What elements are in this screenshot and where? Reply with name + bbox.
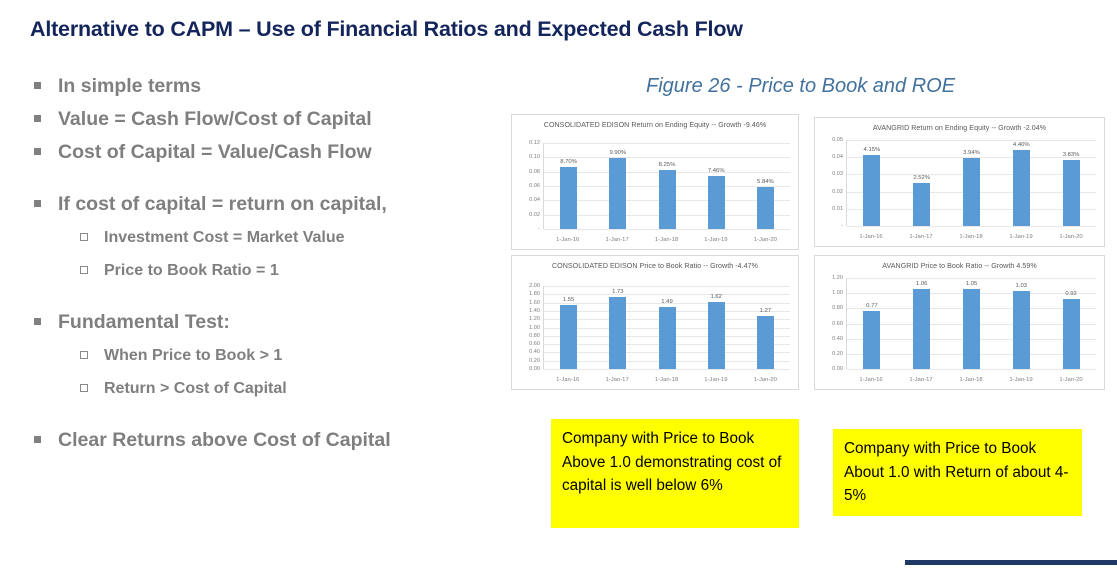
y-axis-tick-label: - [841, 223, 843, 229]
figure-caption: Figure 26 - Price to Book and ROE [646, 75, 955, 98]
y-axis-tick-label: 1.20 [832, 275, 843, 281]
y-axis: 2.001.801.601.401.201.000.800.600.400.20… [516, 286, 542, 369]
bullet-label: In simple terms [58, 70, 201, 103]
y-axis-tick-label: 0.01 [832, 206, 843, 212]
bar [757, 316, 774, 369]
charts-area: CONSOLIDATED EDISON Return on Ending Equ… [511, 114, 1105, 390]
bar-slot: 1.27 [741, 286, 790, 369]
bar-value-label: 0.77 [866, 303, 877, 309]
x-axis-tick-label: 1-Jan-17 [896, 377, 946, 383]
bar-value-label: 1.49 [661, 299, 672, 305]
y-axis-tick-label: 0.20 [832, 351, 843, 357]
bar-slot: 1.49 [642, 286, 691, 369]
accent-bar [905, 560, 1117, 565]
chart-plot-area: 1.201.000.800.600.400.200.000.771.061.05… [815, 278, 1100, 390]
bar [708, 302, 725, 369]
y-axis-tick-label: 0.06 [529, 183, 540, 189]
bullet-hollow-square-icon [80, 384, 88, 392]
x-axis: 1-Jan-161-Jan-171-Jan-181-Jan-191-Jan-20 [846, 226, 1096, 247]
bars-layer: 8.70%9.90%8.25%7.46%5.84% [544, 143, 790, 229]
bar-slot: 1.62 [692, 286, 741, 369]
chart-plot-area: 0.050.040.030.020.01-4.15%2.52%3.94%4.40… [815, 140, 1100, 247]
bullet-square-icon [34, 82, 41, 89]
bar [963, 289, 980, 369]
bar [1063, 299, 1080, 369]
bar-slot: 8.25% [642, 143, 691, 229]
x-axis-tick-label: 1-Jan-17 [896, 234, 946, 240]
bar-value-label: 8.70% [560, 159, 577, 165]
bar-value-label: 0.92 [1065, 291, 1076, 297]
bullet-item: In simple terms [34, 70, 508, 103]
bar-slot: 8.70% [544, 143, 593, 229]
bullet-item: Cost of Capital = Value/Cash Flow [34, 136, 508, 169]
slide-canvas: Alternative to CAPM – Use of Financial R… [0, 0, 1117, 571]
bullet-hollow-square-icon [80, 233, 88, 241]
bar-value-label: 8.25% [659, 162, 676, 168]
y-axis-tick-label: 0.80 [529, 333, 540, 339]
bar-value-label: 1.05 [966, 281, 977, 287]
bar-slot: 1.06 [897, 278, 947, 369]
y-axis-tick-label: 1.00 [529, 325, 540, 331]
bar-slot: 2.52% [897, 140, 947, 226]
x-axis-tick-label: 1-Jan-16 [846, 234, 896, 240]
bar-value-label: 4.40% [1013, 142, 1030, 148]
bullet-square-icon [34, 318, 41, 325]
y-axis-tick-label: 0.08 [529, 169, 540, 175]
bar-value-label: 1.03 [1016, 283, 1027, 289]
bar-value-label: 1.73 [612, 289, 623, 295]
bar-value-label: 1.62 [710, 294, 721, 300]
y-axis-tick-label: 0.05 [832, 137, 843, 143]
bullet-label: If cost of capital = return on capital, [58, 188, 387, 221]
chart-gridlines: 4.15%2.52%3.94%4.40%3.83% [846, 140, 1096, 226]
bar-value-label: 1.06 [916, 281, 927, 287]
x-axis-tick-label: 1-Jan-20 [741, 377, 790, 383]
bullet-label: Price to Book Ratio = 1 [104, 254, 279, 287]
bars-layer: 4.15%2.52%3.94%4.40%3.83% [847, 140, 1096, 226]
y-axis-tick-label: 0.60 [832, 321, 843, 327]
bar [863, 311, 880, 369]
bar [913, 289, 930, 369]
y-axis-tick-label: 0.04 [529, 197, 540, 203]
y-axis-tick-label: 0.60 [529, 341, 540, 347]
bullet-item: Clear Returns above Cost of Capital [34, 424, 508, 457]
bullet-item: Investment Cost = Market Value [80, 221, 508, 254]
y-axis-tick-label: 0.00 [529, 366, 540, 372]
bar-slot: 3.94% [947, 140, 997, 226]
chart-panel: AVANGRID Return on Ending Equity -- Grow… [814, 117, 1105, 247]
bar-value-label: 7.46% [708, 168, 725, 174]
bar [963, 158, 980, 226]
y-axis-tick-label: 0.03 [832, 171, 843, 177]
bullet-square-icon [34, 148, 41, 155]
bullet-list: In simple termsValue = Cash Flow/Cost of… [28, 70, 508, 457]
y-axis: 1.201.000.800.600.400.200.00 [819, 278, 845, 369]
bars-layer: 1.551.731.491.621.27 [544, 286, 790, 369]
bar [609, 297, 626, 369]
bullet-hollow-square-icon [80, 266, 88, 274]
callout-price-to-book-above-one: Company with Price to Book Above 1.0 dem… [551, 419, 799, 528]
bar-slot: 1.55 [544, 286, 593, 369]
chart-gridlines: 1.551.731.491.621.27 [543, 286, 790, 369]
x-axis-tick-label: 1-Jan-16 [846, 377, 896, 383]
callout-price-to-book-about-one: Company with Price to Book About 1.0 wit… [833, 429, 1082, 516]
bars-layer: 0.771.061.051.030.92 [847, 278, 1096, 369]
x-axis-tick-label: 1-Jan-16 [543, 377, 592, 383]
bar-value-label: 5.84% [757, 179, 774, 185]
bar-slot: 1.03 [996, 278, 1046, 369]
x-axis-tick-label: 1-Jan-16 [543, 237, 592, 243]
bar [757, 187, 774, 229]
bar [1013, 150, 1030, 226]
y-axis-tick-label: 0.10 [529, 154, 540, 160]
bullet-item: Return > Cost of Capital [80, 372, 508, 405]
bar-slot: 3.83% [1046, 140, 1096, 226]
bar [708, 176, 725, 229]
chart-plot-area: 0.120.100.080.060.040.02-8.70%9.90%8.25%… [512, 143, 794, 250]
bar-slot: 1.73 [593, 286, 642, 369]
bullet-item: Fundamental Test: [34, 306, 508, 339]
bullet-label: Return > Cost of Capital [104, 372, 287, 405]
x-axis-tick-label: 1-Jan-18 [642, 377, 691, 383]
bar [609, 158, 626, 229]
x-axis: 1-Jan-161-Jan-171-Jan-181-Jan-191-Jan-20 [846, 369, 1096, 390]
bar [1013, 291, 1030, 369]
y-axis-tick-label: 1.60 [529, 300, 540, 306]
bullet-item: Value = Cash Flow/Cost of Capital [34, 103, 508, 136]
chart-title: CONSOLIDATED EDISON Price to Book Ratio … [518, 261, 792, 271]
x-axis-tick-label: 1-Jan-17 [592, 237, 641, 243]
y-axis-tick-label: 0.80 [832, 305, 843, 311]
bar-slot: 7.46% [692, 143, 741, 229]
bar-slot: 0.92 [1046, 278, 1096, 369]
bullet-item: Price to Book Ratio = 1 [80, 254, 508, 287]
bar-slot: 5.84% [741, 143, 790, 229]
bullet-label: Value = Cash Flow/Cost of Capital [58, 103, 372, 136]
bar [1063, 160, 1080, 226]
bar-value-label: 1.27 [760, 308, 771, 314]
y-axis-tick-label: 0.00 [832, 366, 843, 372]
x-axis-tick-label: 1-Jan-20 [1046, 377, 1096, 383]
bar [659, 170, 676, 229]
chart-plot-area: 2.001.801.601.401.201.000.800.600.400.20… [512, 286, 794, 390]
chart-gridlines: 0.771.061.051.030.92 [846, 278, 1096, 369]
bullet-square-icon [34, 200, 41, 207]
y-axis-tick-label: 1.40 [529, 308, 540, 314]
y-axis-tick-label: 1.20 [529, 316, 540, 322]
bullet-label: Cost of Capital = Value/Cash Flow [58, 136, 372, 169]
bar-value-label: 4.15% [864, 147, 881, 153]
x-axis-tick-label: 1-Jan-18 [946, 234, 996, 240]
bullet-label: When Price to Book > 1 [104, 339, 282, 372]
bar [560, 305, 577, 369]
bar [659, 307, 676, 369]
x-axis-tick-label: 1-Jan-18 [946, 377, 996, 383]
y-axis-tick-label: 0.12 [529, 140, 540, 146]
y-axis-tick-label: 0.20 [529, 358, 540, 364]
chart-title: AVANGRID Return on Ending Equity -- Grow… [821, 123, 1098, 133]
x-axis-tick-label: 1-Jan-19 [996, 377, 1046, 383]
y-axis: 0.050.040.030.020.01- [819, 140, 845, 226]
bullet-item: When Price to Book > 1 [80, 339, 508, 372]
bar-slot: 4.15% [847, 140, 897, 226]
x-axis-tick-label: 1-Jan-20 [1046, 234, 1096, 240]
bullet-label: Fundamental Test: [58, 306, 230, 339]
bar-slot: 9.90% [593, 143, 642, 229]
y-axis-tick-label: - [538, 226, 540, 232]
y-axis-tick-label: 2.00 [529, 283, 540, 289]
y-axis-tick-label: 1.00 [832, 290, 843, 296]
bar-value-label: 2.52% [913, 175, 930, 181]
y-axis-tick-label: 0.04 [832, 154, 843, 160]
bullet-item: If cost of capital = return on capital, [34, 188, 508, 221]
x-axis-tick-label: 1-Jan-19 [996, 234, 1046, 240]
bullet-hollow-square-icon [80, 351, 88, 359]
x-axis-tick-label: 1-Jan-20 [741, 237, 790, 243]
x-axis: 1-Jan-161-Jan-171-Jan-181-Jan-191-Jan-20 [543, 369, 790, 390]
chart-panel: AVANGRID Price to Book Ratio -- Growth 4… [814, 255, 1105, 390]
page-title: Alternative to CAPM – Use of Financial R… [30, 17, 743, 42]
x-axis-tick-label: 1-Jan-17 [592, 377, 641, 383]
chart-panel: CONSOLIDATED EDISON Price to Book Ratio … [511, 255, 799, 390]
chart-title: CONSOLIDATED EDISON Return on Ending Equ… [518, 120, 792, 130]
bullet-label: Investment Cost = Market Value [104, 221, 345, 254]
bar-slot: 1.05 [947, 278, 997, 369]
chart-panel: CONSOLIDATED EDISON Return on Ending Equ… [511, 114, 799, 250]
y-axis-tick-label: 0.02 [832, 189, 843, 195]
x-axis: 1-Jan-161-Jan-171-Jan-181-Jan-191-Jan-20 [543, 229, 790, 250]
x-axis-tick-label: 1-Jan-18 [642, 237, 691, 243]
bar-value-label: 3.83% [1063, 152, 1080, 158]
bullet-square-icon [34, 115, 41, 122]
bar [863, 155, 880, 226]
y-axis: 0.120.100.080.060.040.02- [516, 143, 542, 229]
bar-value-label: 9.90% [609, 150, 626, 156]
bullet-label: Clear Returns above Cost of Capital [58, 424, 391, 457]
y-axis-tick-label: 0.40 [832, 336, 843, 342]
bullet-square-icon [34, 436, 41, 443]
x-axis-tick-label: 1-Jan-19 [691, 377, 740, 383]
y-axis-tick-label: 1.80 [529, 291, 540, 297]
bar-slot: 4.40% [996, 140, 1046, 226]
bar [560, 167, 577, 229]
bar [913, 183, 930, 226]
x-axis-tick-label: 1-Jan-19 [691, 237, 740, 243]
bar-value-label: 1.55 [563, 297, 574, 303]
y-axis-tick-label: 0.40 [529, 349, 540, 355]
chart-gridlines: 8.70%9.90%8.25%7.46%5.84% [543, 143, 790, 229]
bar-slot: 0.77 [847, 278, 897, 369]
bar-value-label: 3.94% [963, 150, 980, 156]
y-axis-tick-label: 0.02 [529, 212, 540, 218]
chart-title: AVANGRID Price to Book Ratio -- Growth 4… [821, 261, 1098, 271]
